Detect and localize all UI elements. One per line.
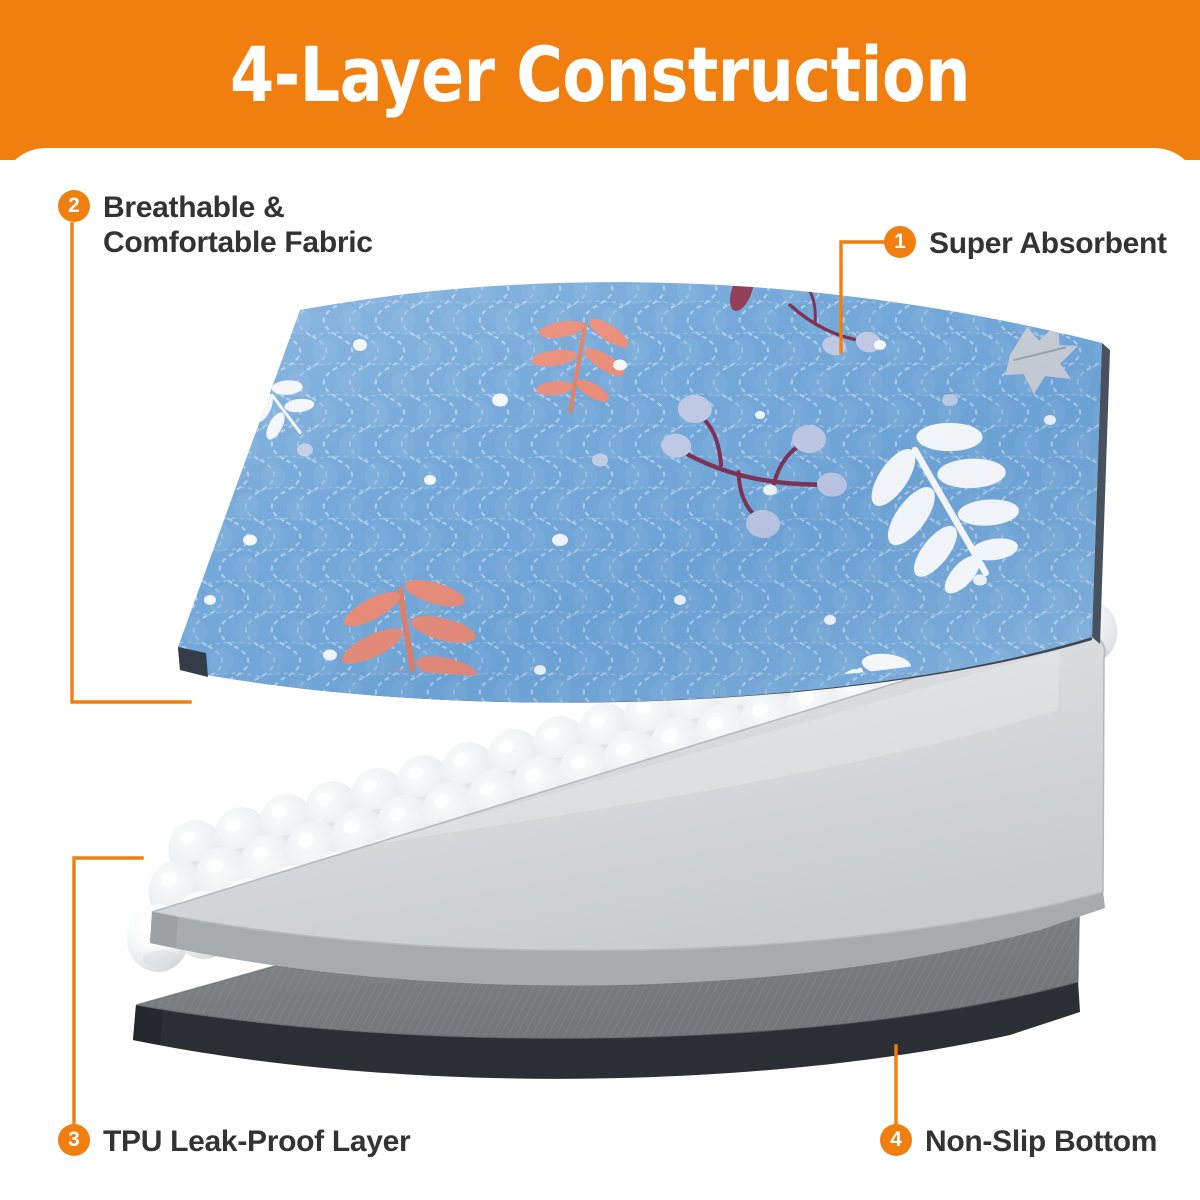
callout-label-1: Super Absorbent	[929, 226, 1167, 261]
callout-badge-2: 2	[58, 190, 90, 222]
callout-label-4: Non-Slip Bottom	[925, 1124, 1157, 1159]
layer-stack-illustration	[0, 150, 1200, 1150]
callout-badge-1: 1	[884, 226, 916, 258]
callout-4: 4 Non-Slip Bottom	[880, 1124, 1157, 1159]
callout-badge-3: 3	[58, 1124, 90, 1156]
infographic-page: 4-Layer Construction	[0, 0, 1200, 1200]
callout-badge-4: 4	[880, 1124, 912, 1156]
callout-3: 3 TPU Leak-Proof Layer	[58, 1124, 410, 1159]
callout-label-3: TPU Leak-Proof Layer	[103, 1124, 410, 1159]
callout-1: 1 Super Absorbent	[884, 226, 1167, 261]
callout-2: 2 Breathable & Comfortable Fabric	[58, 190, 373, 261]
callout-label-2: Breathable & Comfortable Fabric	[103, 190, 373, 261]
page-title: 4-Layer Construction	[42, 0, 1158, 150]
